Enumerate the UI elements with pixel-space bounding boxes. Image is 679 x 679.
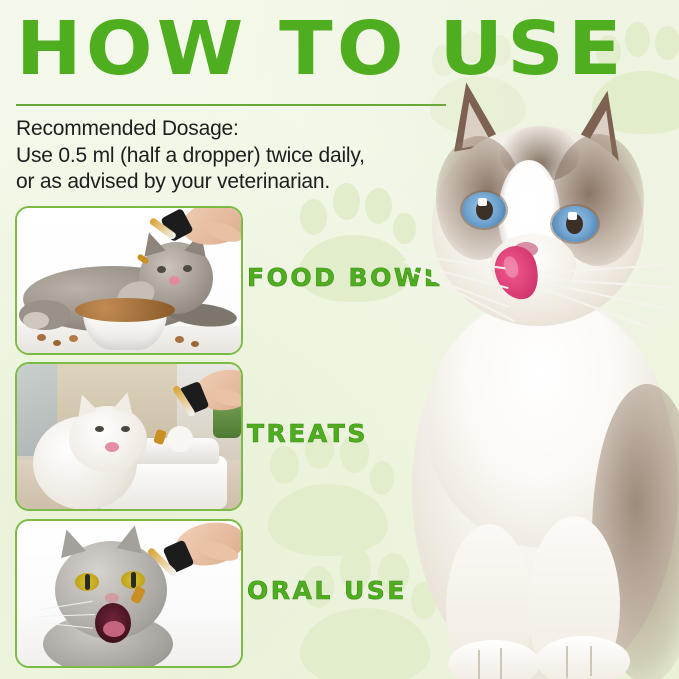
cat-eye-right xyxy=(121,426,130,432)
cat-eye-left xyxy=(95,426,104,432)
paw-toe-line xyxy=(500,648,502,679)
how-to-use-poster: HOW TO USE Recommended Dosage: Use 0.5 m… xyxy=(0,0,679,679)
kibble-scatter xyxy=(37,334,46,341)
dosage-line-2: or as advised by your veterinarian. xyxy=(16,169,468,196)
eye-highlight-right xyxy=(568,212,577,220)
cat-eye-right xyxy=(183,265,192,272)
dosage-block: Recommended Dosage: Use 0.5 ml (half a d… xyxy=(16,116,468,196)
kibble-scatter xyxy=(53,340,61,346)
step-thumbnail-oral-use[interactable] xyxy=(15,519,243,668)
kibble-scatter xyxy=(191,341,199,347)
kibble-scatter xyxy=(69,335,78,342)
paw-toe-line xyxy=(478,650,480,679)
cat-pupil-right xyxy=(131,572,136,588)
cat-ear-right xyxy=(117,523,148,554)
step-thumbnail-treats[interactable] xyxy=(15,362,243,511)
scene-treats xyxy=(17,364,241,509)
dosage-heading: Recommended Dosage: xyxy=(16,116,468,143)
hero-cat-image xyxy=(404,84,679,679)
dosage-line-1: Use 0.5 ml (half a dropper) twice daily, xyxy=(16,143,468,170)
scene-oral-use xyxy=(17,521,241,666)
cat-paw-right xyxy=(536,636,630,679)
cat-paw-front xyxy=(23,312,49,329)
step-label-treats: TREATS xyxy=(247,419,368,448)
cat-tongue xyxy=(105,442,119,452)
scene-food-bowl xyxy=(17,208,241,353)
kibble-scatter xyxy=(175,336,184,343)
cat-pupil-left xyxy=(85,574,90,590)
paw-toe-line xyxy=(590,646,592,676)
paw-toe-line xyxy=(566,646,568,678)
cat-tongue xyxy=(103,621,125,637)
title-divider xyxy=(16,104,446,106)
cat-eye-left xyxy=(157,266,166,273)
step-label-oral-use: ORAL USE xyxy=(247,576,407,605)
water-fountain-spout xyxy=(167,426,193,452)
step-thumbnail-food-bowl[interactable] xyxy=(15,206,243,355)
page-title: HOW TO USE xyxy=(16,6,626,92)
kibble-pile xyxy=(75,298,175,322)
cat-tongue xyxy=(169,276,180,285)
cat-nose xyxy=(105,593,119,603)
eye-highlight-left xyxy=(478,198,487,206)
